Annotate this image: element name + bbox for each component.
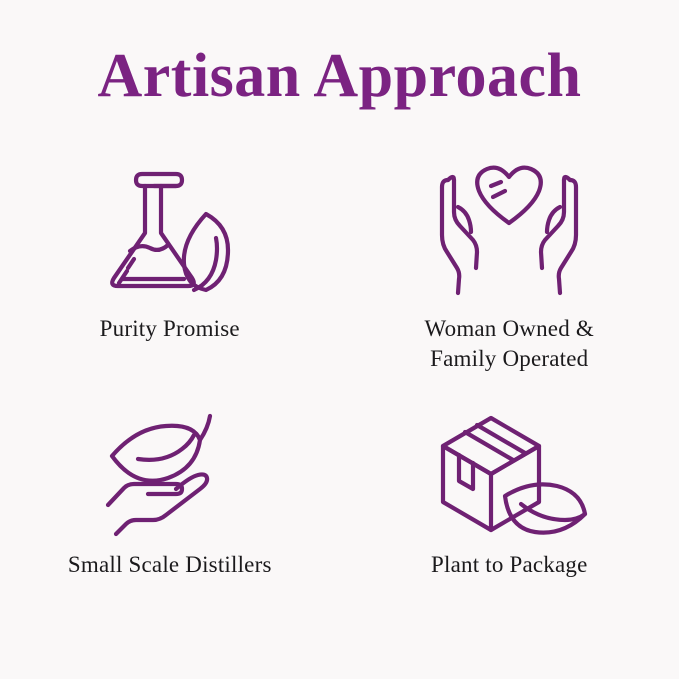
feature-label: Purity Promise	[100, 314, 240, 344]
feature-item-small-scale-distillers: Small Scale Distillers	[0, 410, 340, 640]
hands-heart-icon	[429, 150, 589, 300]
feature-item-woman-owned: Woman Owned & Family Operated	[340, 150, 679, 410]
feature-label: Plant to Package	[431, 550, 588, 580]
hand-leaf-icon	[90, 410, 250, 540]
feature-grid: Purity Promise	[0, 150, 679, 640]
feature-item-purity-promise: Purity Promise	[0, 150, 340, 410]
flask-leaf-icon	[90, 150, 250, 300]
feature-item-plant-to-package: Plant to Package	[340, 410, 679, 640]
page-title: Artisan Approach	[0, 44, 679, 109]
feature-label: Woman Owned & Family Operated	[425, 314, 594, 375]
box-leaf-icon	[429, 410, 589, 540]
artisan-approach-panel: Artisan Approach	[0, 0, 679, 679]
feature-label: Small Scale Distillers	[68, 550, 272, 580]
